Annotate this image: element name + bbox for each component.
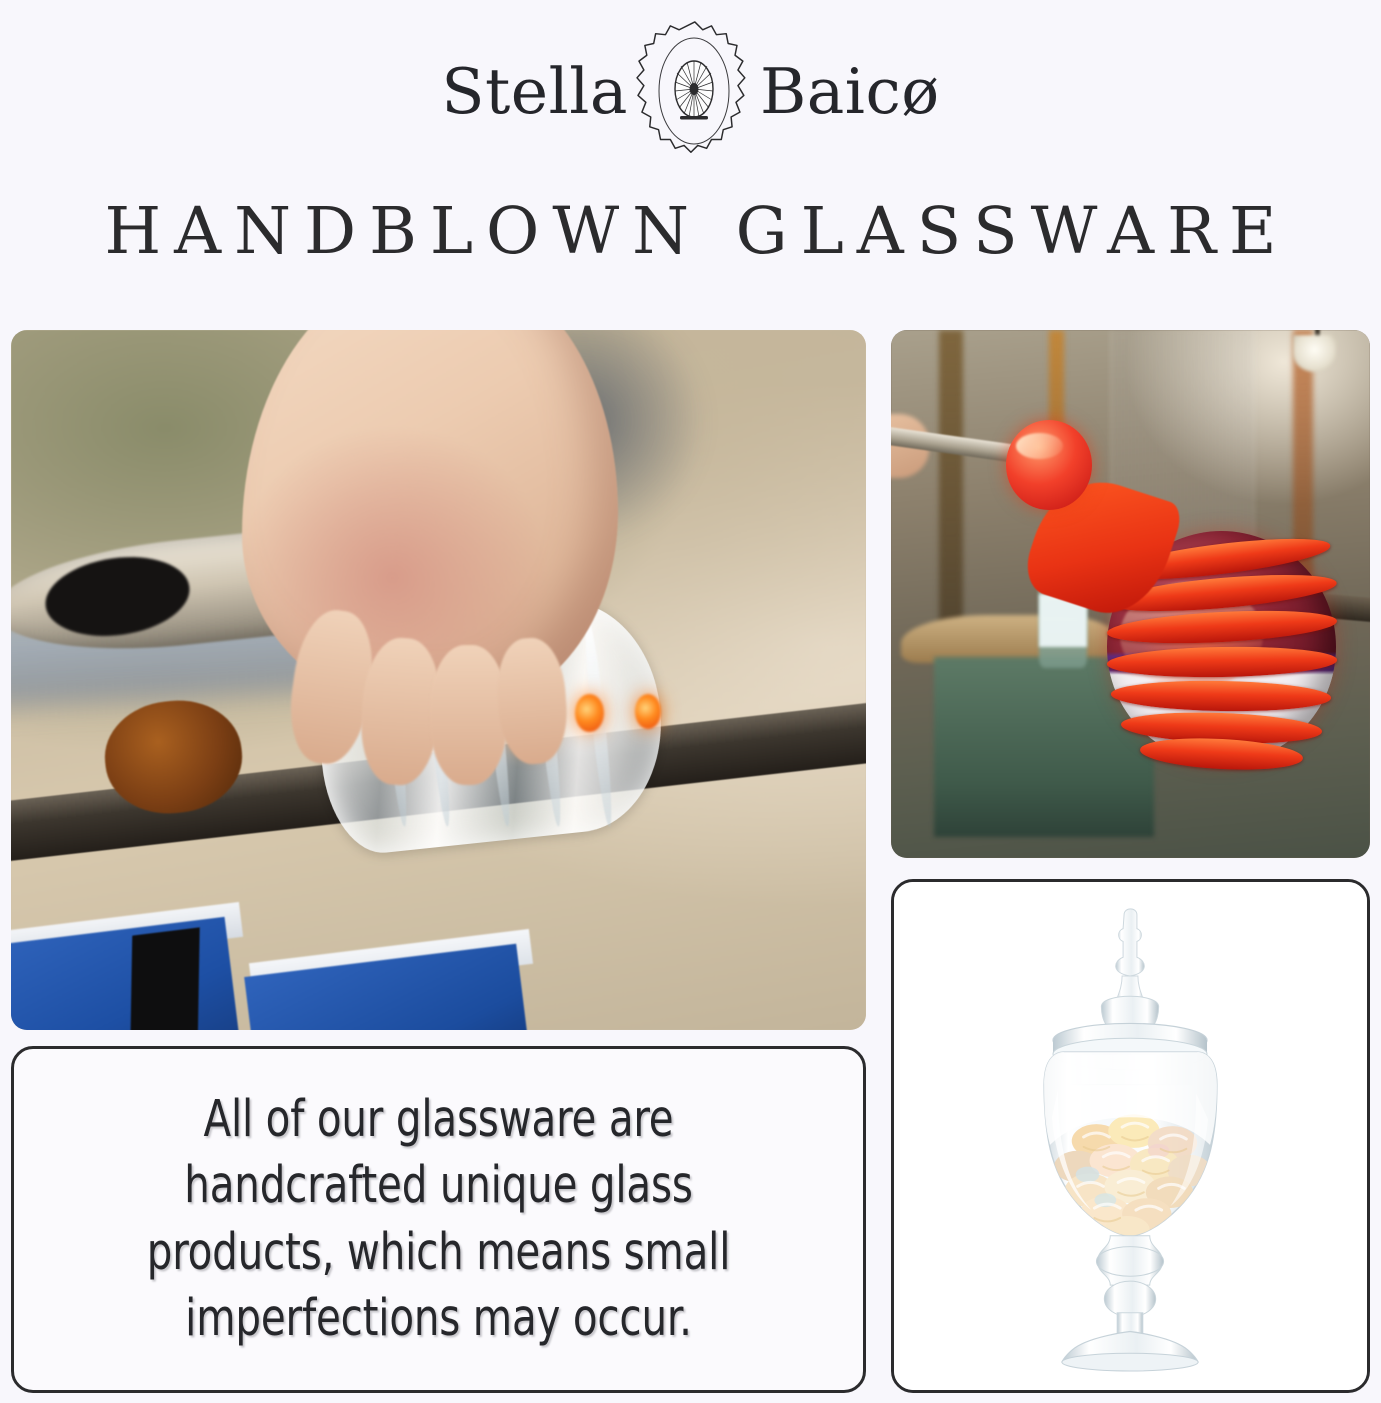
photo-artwork (11, 330, 866, 1030)
photo-artwork (894, 882, 1367, 1390)
brand-name-first-word: Stella (441, 60, 628, 123)
glassblower-hand-shaping-glass-photo (11, 330, 866, 1030)
disclaimer-card: All of our glassware are handcrafted uni… (11, 1046, 866, 1393)
molten-red-glass-sphere-photo (891, 330, 1370, 858)
brand-name-second-word: Baicø (760, 60, 940, 123)
oval-sunburst-medallion-icon (636, 13, 752, 169)
photo-artwork (891, 330, 1370, 858)
page-title: HANDBLOWN GLASSWARE (0, 196, 1381, 268)
product-infographic-page: Stella (0, 0, 1381, 1403)
disclaimer-text: All of our glassware are handcrafted uni… (65, 1087, 812, 1352)
brand-logo: Stella (0, 6, 1381, 176)
glass-apothecary-jar-with-candy-photo (891, 879, 1370, 1393)
